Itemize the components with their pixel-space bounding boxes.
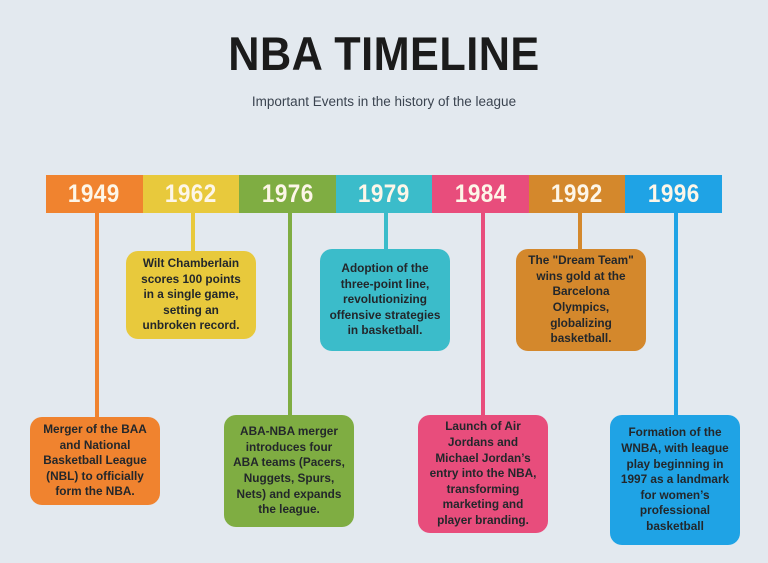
- event-card-1992-text: The "Dream Team" wins gold at the Barcel…: [525, 253, 637, 347]
- event-card-1979[interactable]: Adoption of the three-point line, revolu…: [320, 249, 450, 351]
- year-label-1962: 1962: [165, 180, 217, 209]
- connector-line-1992: [578, 213, 582, 251]
- year-segment-1949[interactable]: 1949: [46, 175, 143, 213]
- year-label-1979: 1979: [358, 180, 410, 209]
- year-segment-1962[interactable]: 1962: [143, 175, 240, 213]
- connector-line-1984: [481, 213, 485, 417]
- year-segment-1992[interactable]: 1992: [529, 175, 626, 213]
- infographic-canvas: NBA TIMELINE Important Events in the his…: [0, 0, 768, 563]
- connector-line-1976: [288, 213, 292, 417]
- event-card-1979-text: Adoption of the three-point line, revolu…: [329, 261, 441, 339]
- event-card-1996-text: Formation of the WNBA, with league play …: [619, 425, 731, 534]
- connector-line-1979: [384, 213, 388, 251]
- year-segment-1979[interactable]: 1979: [336, 175, 433, 213]
- event-card-1976[interactable]: ABA-NBA merger introduces four ABA teams…: [224, 415, 354, 527]
- year-segment-1984[interactable]: 1984: [432, 175, 529, 213]
- year-label-1992: 1992: [551, 180, 603, 209]
- page-subtitle: Important Events in the history of the l…: [0, 93, 768, 111]
- timeline-year-bar: 1949 1962 1976 1979 1984 1992 1996: [46, 175, 722, 213]
- year-segment-1976[interactable]: 1976: [239, 175, 336, 213]
- connector-line-1949: [95, 213, 99, 419]
- event-card-1949[interactable]: Merger of the BAA and National Basketbal…: [30, 417, 160, 505]
- event-card-1976-text: ABA-NBA merger introduces four ABA teams…: [233, 424, 345, 518]
- connector-line-1962: [191, 213, 195, 253]
- year-label-1949: 1949: [68, 180, 120, 209]
- year-label-1976: 1976: [262, 180, 314, 209]
- year-segment-1996[interactable]: 1996: [625, 175, 722, 213]
- connector-line-1996: [674, 213, 678, 417]
- page-title: NBA TIMELINE: [31, 28, 738, 80]
- event-card-1996[interactable]: Formation of the WNBA, with league play …: [610, 415, 740, 545]
- event-card-1962[interactable]: Wilt Chamberlain scores 100 points in a …: [126, 251, 256, 339]
- event-card-1949-text: Merger of the BAA and National Basketbal…: [39, 422, 151, 500]
- year-label-1984: 1984: [455, 180, 507, 209]
- event-card-1984[interactable]: Launch of Air Jordans and Michael Jordan…: [418, 415, 548, 533]
- event-card-1962-text: Wilt Chamberlain scores 100 points in a …: [135, 256, 247, 334]
- event-card-1984-text: Launch of Air Jordans and Michael Jordan…: [427, 419, 539, 528]
- event-card-1992[interactable]: The "Dream Team" wins gold at the Barcel…: [516, 249, 646, 351]
- year-label-1996: 1996: [648, 180, 700, 209]
